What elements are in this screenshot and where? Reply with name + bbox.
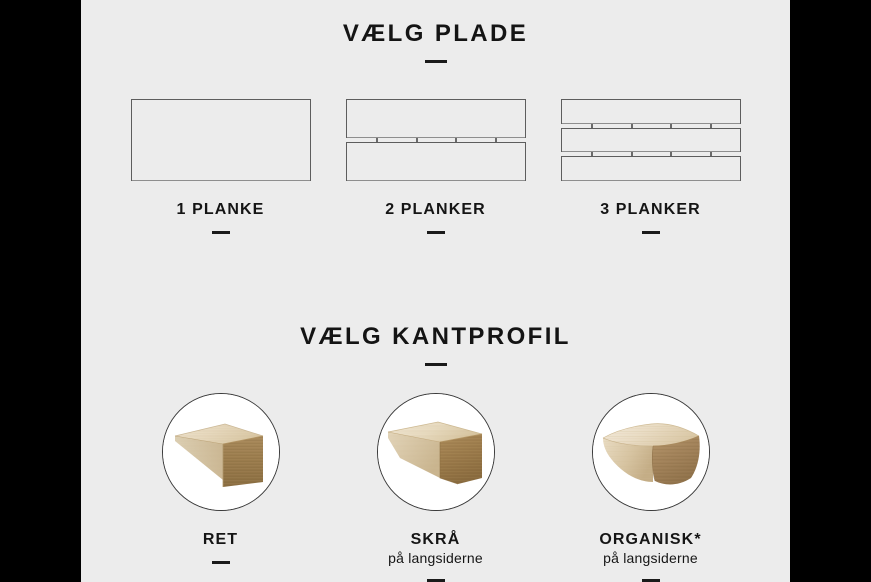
bevel-edge-photo-icon — [377, 393, 495, 511]
section-kantprofil-header: VÆLG KANTPROFIL — [81, 325, 790, 366]
option-1-planke-label: 1 PLANKE — [177, 201, 265, 219]
option-skraa-divider — [427, 579, 445, 582]
edge-profile-options-row: RET — [81, 393, 790, 582]
option-ret-label: RET — [203, 531, 238, 549]
plank-board — [346, 99, 526, 138]
letterbox-bar-left — [0, 0, 81, 582]
section-plade-divider — [425, 60, 447, 63]
three-plank-diagram-icon — [561, 99, 741, 181]
straight-edge-photo-icon — [162, 393, 280, 511]
plank-board — [131, 99, 311, 181]
plank-board — [561, 156, 741, 181]
option-3-planker-label: 3 PLANKER — [600, 201, 701, 219]
plank-board — [346, 142, 526, 181]
one-plank-diagram-icon — [131, 99, 311, 181]
option-1-planke-divider — [212, 231, 230, 234]
option-skraa-label: SKRÅ — [411, 531, 461, 549]
option-ret[interactable]: RET — [113, 393, 328, 582]
option-organisk[interactable]: ORGANISK* på langsiderne — [543, 393, 758, 582]
letterbox-bar-right — [790, 0, 871, 582]
organic-edge-photo-icon — [592, 393, 710, 511]
option-ret-divider — [212, 561, 230, 564]
option-organisk-label: ORGANISK* — [599, 531, 701, 549]
section-kantprofil-title: VÆLG KANTPROFIL — [81, 325, 790, 349]
option-skraa[interactable]: SKRÅ på langsiderne — [328, 393, 543, 582]
section-plade-title: VÆLG PLADE — [81, 22, 790, 46]
option-organisk-sublabel: på langsiderne — [603, 550, 698, 567]
content-panel: VÆLG PLADE 1 PLANKE — [81, 0, 790, 582]
option-3-planker-divider — [642, 231, 660, 234]
plank-options-row: 1 PLANKE 2 PLANKER — [81, 99, 790, 234]
option-skraa-sublabel: på langsiderne — [388, 550, 483, 567]
option-organisk-divider — [642, 579, 660, 582]
option-2-planker-divider — [427, 231, 445, 234]
option-2-planker-label: 2 PLANKER — [385, 201, 486, 219]
plank-board — [561, 99, 741, 124]
option-2-planker[interactable]: 2 PLANKER — [328, 99, 543, 234]
section-kantprofil-divider — [425, 363, 447, 366]
plank-board — [561, 128, 741, 153]
option-3-planker[interactable]: 3 PLANKER — [543, 99, 758, 234]
section-plade-header: VÆLG PLADE — [81, 22, 790, 63]
screenshot-canvas: VÆLG PLADE 1 PLANKE — [0, 0, 871, 582]
two-plank-diagram-icon — [346, 99, 526, 181]
option-1-planke[interactable]: 1 PLANKE — [113, 99, 328, 234]
